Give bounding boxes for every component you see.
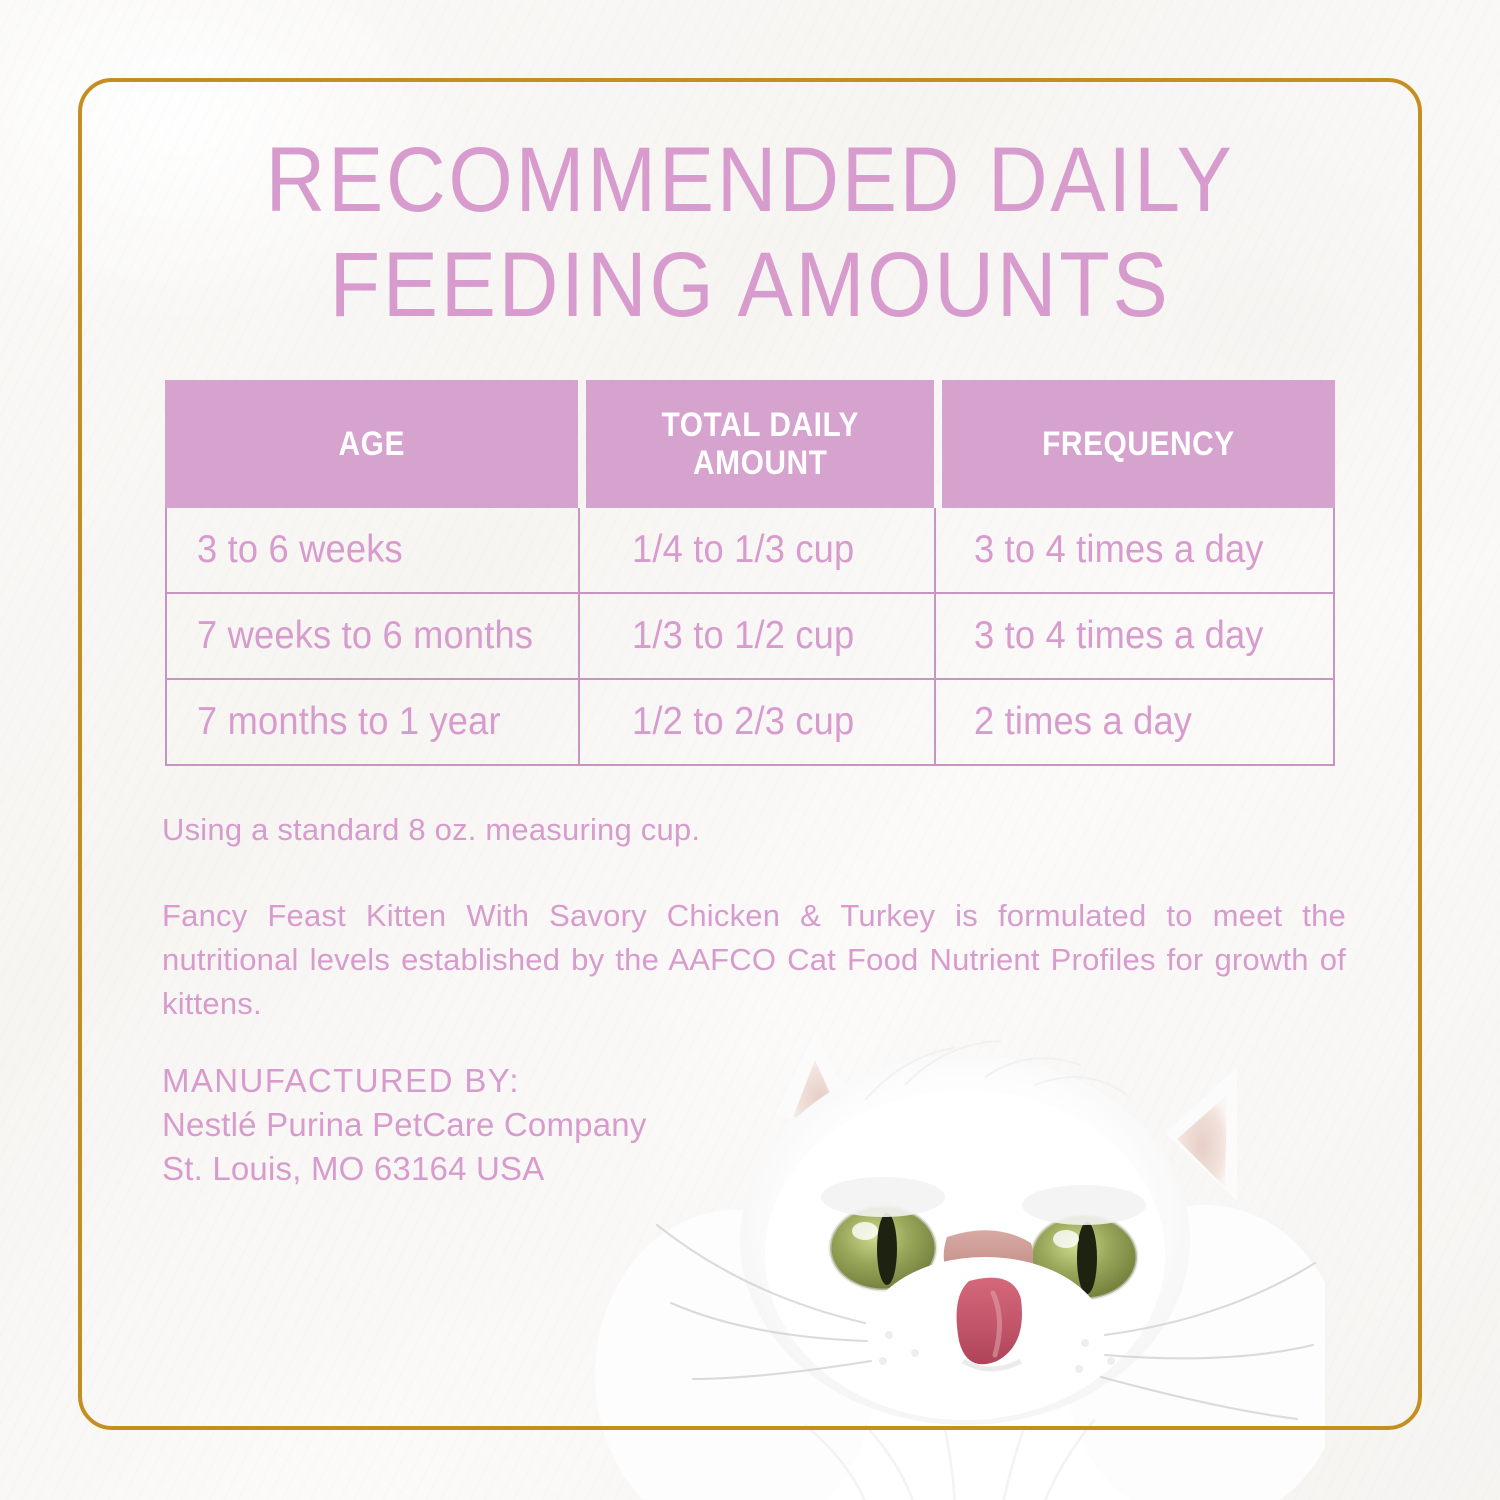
table-row: 7 months to 1 year 1/2 to 2/3 cup 2 time… <box>167 678 1333 764</box>
manufacturer-block: MANUFACTURED BY: Nestlé Purina PetCare C… <box>162 1060 862 1191</box>
cell-frequency: 2 times a day <box>936 680 1333 764</box>
cell-age: 3 to 6 weeks <box>167 508 580 592</box>
cell-amount-value: 1/2 to 2/3 cup <box>632 700 854 744</box>
cell-frequency-value: 2 times a day <box>974 700 1192 744</box>
manufacturer-address: St. Louis, MO 63164 USA <box>162 1147 862 1191</box>
page-title: RECOMMENDED DAILY FEEDING AMOUNTS <box>210 128 1290 338</box>
cell-age: 7 weeks to 6 months <box>167 594 580 678</box>
measuring-cup-note: Using a standard 8 oz. measuring cup. <box>162 808 1062 852</box>
cell-amount: 1/3 to 1/2 cup <box>580 594 936 678</box>
column-header-age: AGE <box>165 380 578 508</box>
cell-frequency-value: 3 to 4 times a day <box>974 614 1264 658</box>
cell-frequency: 3 to 4 times a day <box>936 594 1333 678</box>
cell-frequency: 3 to 4 times a day <box>936 508 1333 592</box>
table-body: 3 to 6 weeks 1/4 to 1/3 cup 3 to 4 times… <box>165 508 1335 766</box>
cell-amount: 1/2 to 2/3 cup <box>580 680 936 764</box>
cell-age-value: 3 to 6 weeks <box>197 528 403 572</box>
column-header-total-daily-amount: TOTAL DAILY AMOUNT <box>586 380 934 508</box>
table-header-row: AGE TOTAL DAILY AMOUNT FREQUENCY <box>165 380 1335 508</box>
cell-frequency-value: 3 to 4 times a day <box>974 528 1264 572</box>
cell-amount: 1/4 to 1/3 cup <box>580 508 936 592</box>
manufacturer-company: Nestlé Purina PetCare Company <box>162 1103 862 1147</box>
product-label-panel: RECOMMENDED DAILY FEEDING AMOUNTS AGE TO… <box>0 0 1500 1500</box>
manufacturer-heading: MANUFACTURED BY: <box>162 1060 862 1103</box>
feeding-amounts-table: AGE TOTAL DAILY AMOUNT FREQUENCY 3 to 6 … <box>165 380 1335 766</box>
column-header-frequency: FREQUENCY <box>942 380 1335 508</box>
aafco-statement: Fancy Feast Kitten With Savory Chicken &… <box>162 894 1346 1026</box>
column-header-total-daily-amount-label: TOTAL DAILY AMOUNT <box>661 406 859 482</box>
table-row: 3 to 6 weeks 1/4 to 1/3 cup 3 to 4 times… <box>167 508 1333 592</box>
cell-age-value: 7 months to 1 year <box>197 700 501 744</box>
column-header-age-label: AGE <box>338 425 404 463</box>
cell-amount-value: 1/4 to 1/3 cup <box>632 528 854 572</box>
table-row: 7 weeks to 6 months 1/3 to 1/2 cup 3 to … <box>167 592 1333 678</box>
cell-age: 7 months to 1 year <box>167 680 580 764</box>
cell-amount-value: 1/3 to 1/2 cup <box>632 614 854 658</box>
column-header-frequency-label: FREQUENCY <box>1042 425 1235 463</box>
cell-age-value: 7 weeks to 6 months <box>197 614 533 658</box>
